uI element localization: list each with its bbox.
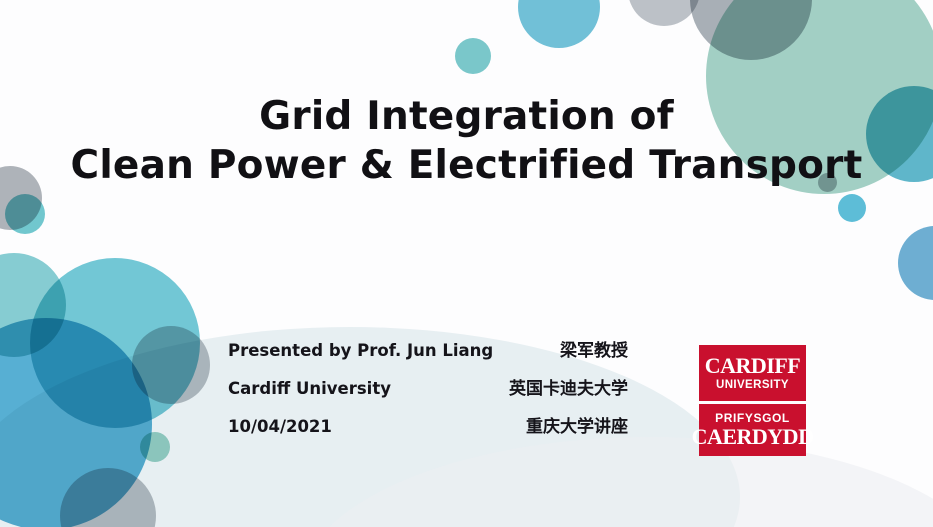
teal-dot-top	[455, 38, 491, 74]
gray-top-edge	[628, 0, 700, 26]
title-line-2: Clean Power & Electrified Transport	[0, 143, 933, 188]
logo-prifysgol-text: PRIFYSGOL	[715, 412, 790, 424]
presenter-row-1: Presented by Prof. Jun Liang 梁军教授	[228, 336, 628, 374]
gray-bottom	[60, 468, 156, 527]
cyan-big-bottomleft	[0, 318, 152, 527]
presentation-date: 10/04/2021	[228, 417, 332, 436]
mint-dot-bottom	[140, 432, 170, 462]
cardiff-university-logo: CARDIFF UNIVERSITY PRIFYSGOL CAERDYDD	[699, 345, 806, 456]
teal-left-small	[5, 194, 45, 234]
logo-caerdydd-text: CAERDYDD	[692, 426, 814, 448]
presenter-row-2: Cardiff University 英国卡迪夫大学	[228, 374, 628, 412]
event-name-chinese: 重庆大学讲座	[526, 412, 628, 437]
presenter-info: Presented by Prof. Jun Liang 梁军教授 Cardif…	[228, 336, 628, 450]
gray-topright	[690, 0, 812, 60]
teal-left-mid	[0, 253, 66, 357]
logo-english-block: CARDIFF UNIVERSITY	[699, 345, 806, 401]
presenter-name-chinese: 梁军教授	[560, 336, 628, 361]
affiliation-chinese: 英国卡迪夫大学	[509, 374, 628, 399]
logo-welsh-block: PRIFYSGOL CAERDYDD	[699, 404, 806, 456]
affiliation-english: Cardiff University	[228, 379, 391, 398]
gray-bottomleft	[132, 326, 210, 404]
teal-big-bottomleft	[30, 258, 200, 428]
background-wash-right	[300, 437, 933, 527]
logo-university-text: UNIVERSITY	[716, 380, 789, 392]
presentation-slide: Grid Integration of Clean Power & Electr…	[0, 0, 933, 527]
teal-top-mid	[518, 0, 600, 48]
teal-dot-right	[838, 194, 866, 222]
blue-right-lower	[898, 226, 933, 300]
title-line-1: Grid Integration of	[0, 94, 933, 139]
presenter-name-english: Presented by Prof. Jun Liang	[228, 341, 493, 360]
presenter-row-3: 10/04/2021 重庆大学讲座	[228, 412, 628, 450]
slide-title: Grid Integration of Clean Power & Electr…	[0, 94, 933, 188]
logo-cardiff-text: CARDIFF	[705, 355, 801, 377]
